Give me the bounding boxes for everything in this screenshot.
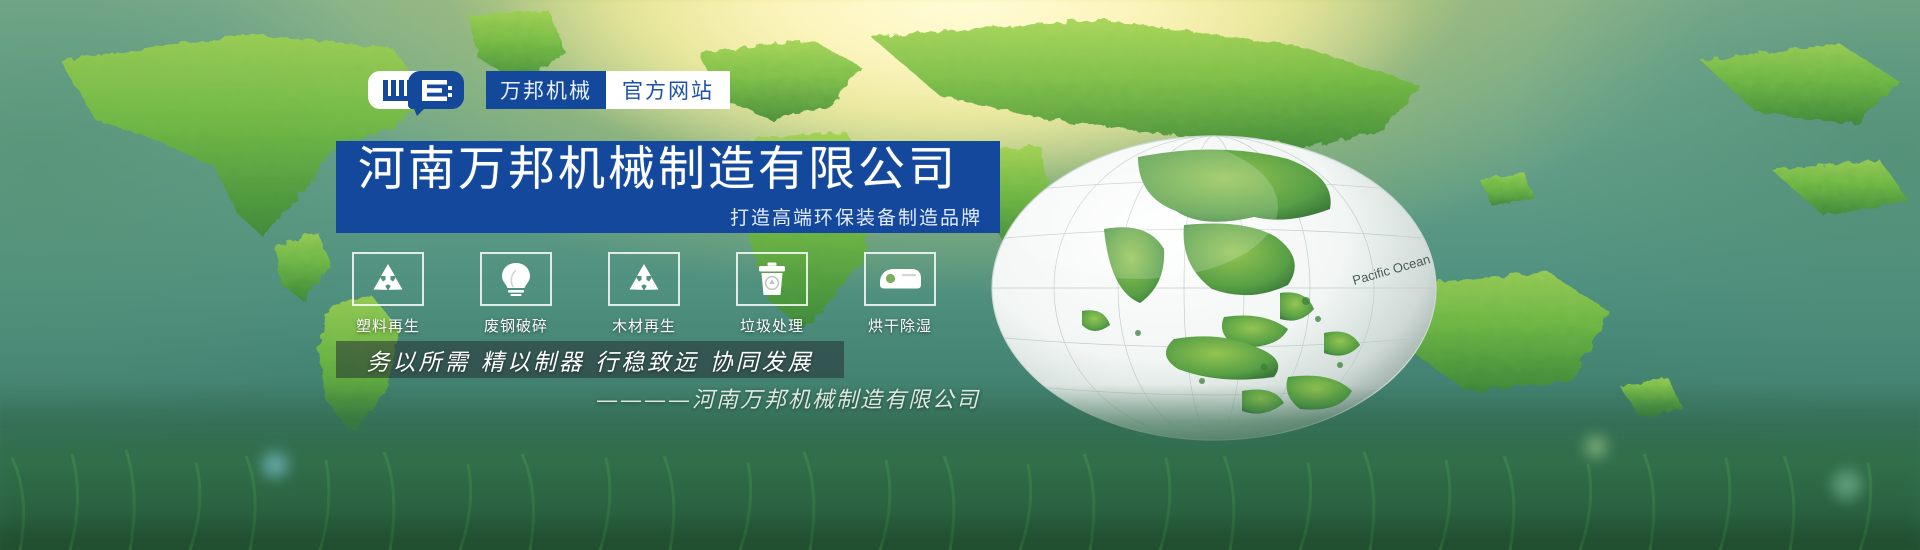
logo-w-icon bbox=[382, 80, 414, 106]
icon-frame bbox=[352, 252, 424, 306]
icon-frame bbox=[608, 252, 680, 306]
logo-b-icon bbox=[422, 80, 452, 106]
slogan-text: 务以所需 精以制器 行稳致远 协同发展 bbox=[367, 343, 814, 377]
feature-label: 烘干除湿 bbox=[868, 315, 932, 336]
feature-label: 废钢破碎 bbox=[484, 315, 548, 336]
grass-depth-blur bbox=[0, 430, 1920, 550]
feature-item-wood-recycling[interactable]: 木材再生 bbox=[592, 252, 696, 336]
feature-label: 木材再生 bbox=[612, 315, 676, 336]
company-logo[interactable] bbox=[368, 71, 460, 109]
bokeh-highlight bbox=[1585, 436, 1607, 458]
company-title-block: 河南万邦机械制造有限公司 打造高端环保装备制造品牌 bbox=[336, 141, 1000, 233]
feature-label: 垃圾处理 bbox=[740, 315, 804, 336]
slogan-signature: ————河南万邦机械制造有限公司 bbox=[560, 382, 980, 414]
feature-item-scrap-steel-crushing[interactable]: 废钢破碎 bbox=[464, 252, 568, 336]
trash-icon bbox=[757, 262, 787, 296]
feature-item-waste-treatment[interactable]: 垃圾处理 bbox=[720, 252, 824, 336]
bokeh-highlight bbox=[262, 452, 288, 478]
brand-header: 万邦机械 官方网站 bbox=[368, 70, 730, 110]
lightbulb-icon bbox=[500, 262, 532, 296]
page-subtitle: 打造高端环保装备制造品牌 bbox=[336, 203, 1000, 230]
slogan-bar: 务以所需 精以制器 行稳致远 协同发展 bbox=[336, 341, 844, 378]
icon-frame bbox=[736, 252, 808, 306]
brand-name-tag: 万邦机械 bbox=[486, 71, 606, 109]
icon-frame bbox=[864, 252, 936, 306]
feature-item-plastic-recycling[interactable]: 塑料再生 bbox=[336, 252, 440, 336]
feature-item-drying-dehumidify[interactable]: 烘干除湿 bbox=[848, 252, 952, 336]
feature-label: 塑料再生 bbox=[356, 315, 420, 336]
official-site-tag: 官方网站 bbox=[606, 71, 730, 109]
page-title: 河南万邦机械制造有限公司 bbox=[336, 145, 1000, 192]
dryer-icon bbox=[878, 266, 922, 292]
bokeh-highlight bbox=[1832, 470, 1862, 500]
icon-frame bbox=[480, 252, 552, 306]
company-banner: Pacific Ocean bbox=[0, 0, 1920, 550]
recycle-icon bbox=[626, 263, 662, 295]
recycle-icon bbox=[370, 263, 406, 295]
feature-icon-row: 塑料再生 废钢破碎 bbox=[336, 252, 1016, 336]
